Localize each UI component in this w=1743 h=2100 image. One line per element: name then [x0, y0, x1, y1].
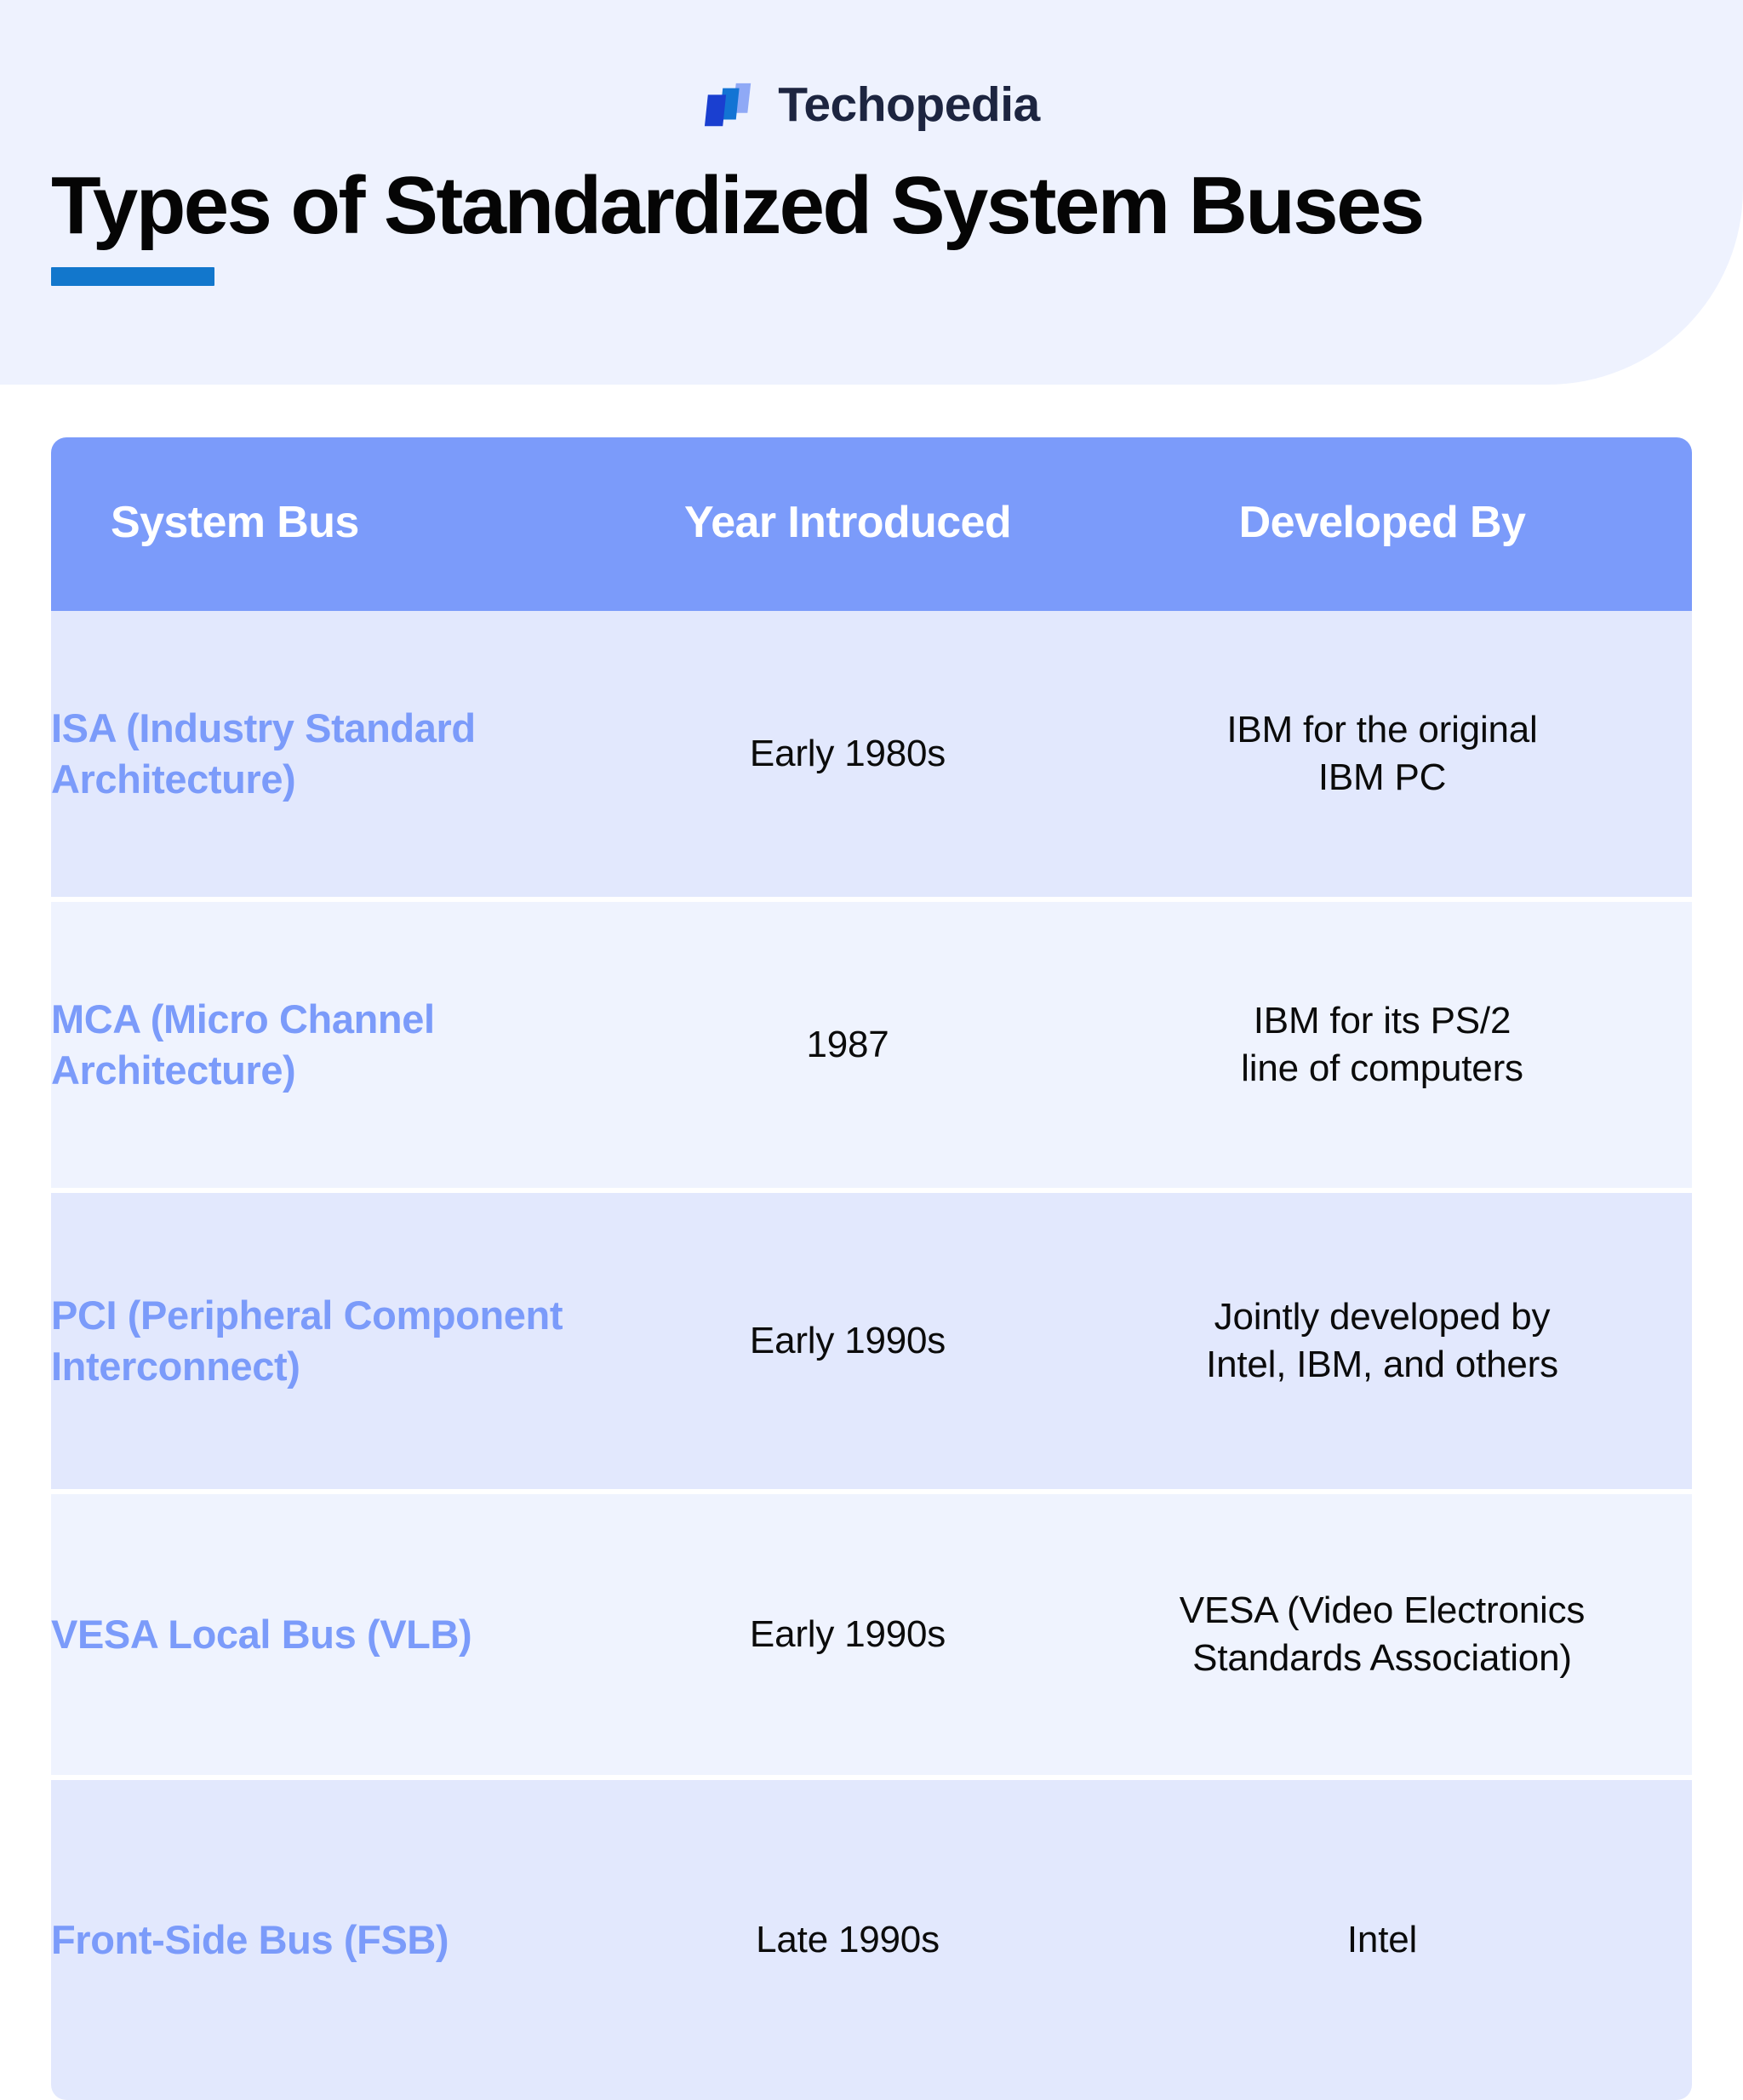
cell-system-bus: VESA Local Bus (VLB)	[51, 1489, 623, 1775]
cell-year: Late 1990s	[623, 1775, 1072, 2100]
cell-system-bus: ISA (Industry Standard Architecture)	[51, 611, 623, 897]
title-block: Types of Standardized System Buses	[0, 160, 1743, 286]
table-container: System Bus Year Introduced Developed By …	[51, 437, 1692, 2100]
cell-developer: Jointly developed by Intel, IBM, and oth…	[1072, 1188, 1692, 1489]
system-bus-table: System Bus Year Introduced Developed By …	[51, 437, 1692, 2100]
cell-system-bus: Front-Side Bus (FSB)	[51, 1775, 623, 2100]
table-row: PCI (Peripheral Component Interconnect) …	[51, 1188, 1692, 1489]
cell-system-bus: PCI (Peripheral Component Interconnect)	[51, 1188, 623, 1489]
column-header-year-introduced: Year Introduced	[623, 437, 1072, 611]
cell-developer: IBM for its PS/2 line of computers	[1072, 897, 1692, 1188]
cell-year: Early 1990s	[623, 1188, 1072, 1489]
cell-year: Early 1990s	[623, 1489, 1072, 1775]
cell-year: 1987	[623, 897, 1072, 1188]
brand-name: Techopedia	[778, 81, 1040, 129]
table-row: MCA (Micro Channel Architecture) 1987 IB…	[51, 897, 1692, 1188]
table-row: VESA Local Bus (VLB) Early 1990s VESA (V…	[51, 1489, 1692, 1775]
cell-developer: IBM for the original IBM PC	[1072, 611, 1692, 897]
techopedia-logo-icon	[703, 78, 756, 131]
table-header: System Bus Year Introduced Developed By	[51, 437, 1692, 611]
table-row: ISA (Industry Standard Architecture) Ear…	[51, 611, 1692, 897]
header-banner: Techopedia Types of Standardized System …	[0, 0, 1743, 385]
column-header-developed-by: Developed By	[1072, 437, 1692, 611]
table-body: ISA (Industry Standard Architecture) Ear…	[51, 611, 1692, 2100]
cell-developer: VESA (Video Electronics Standards Associ…	[1072, 1489, 1692, 1775]
cell-system-bus: MCA (Micro Channel Architecture)	[51, 897, 623, 1188]
cell-developer: Intel	[1072, 1775, 1692, 2100]
page-title: Types of Standardized System Buses	[51, 160, 1692, 252]
cell-year: Early 1980s	[623, 611, 1072, 897]
column-header-system-bus: System Bus	[51, 437, 623, 611]
title-accent-bar	[51, 267, 214, 286]
brand-lockup: Techopedia	[0, 0, 1743, 136]
table-row: Front-Side Bus (FSB) Late 1990s Intel	[51, 1775, 1692, 2100]
table-header-row: System Bus Year Introduced Developed By	[51, 437, 1692, 611]
